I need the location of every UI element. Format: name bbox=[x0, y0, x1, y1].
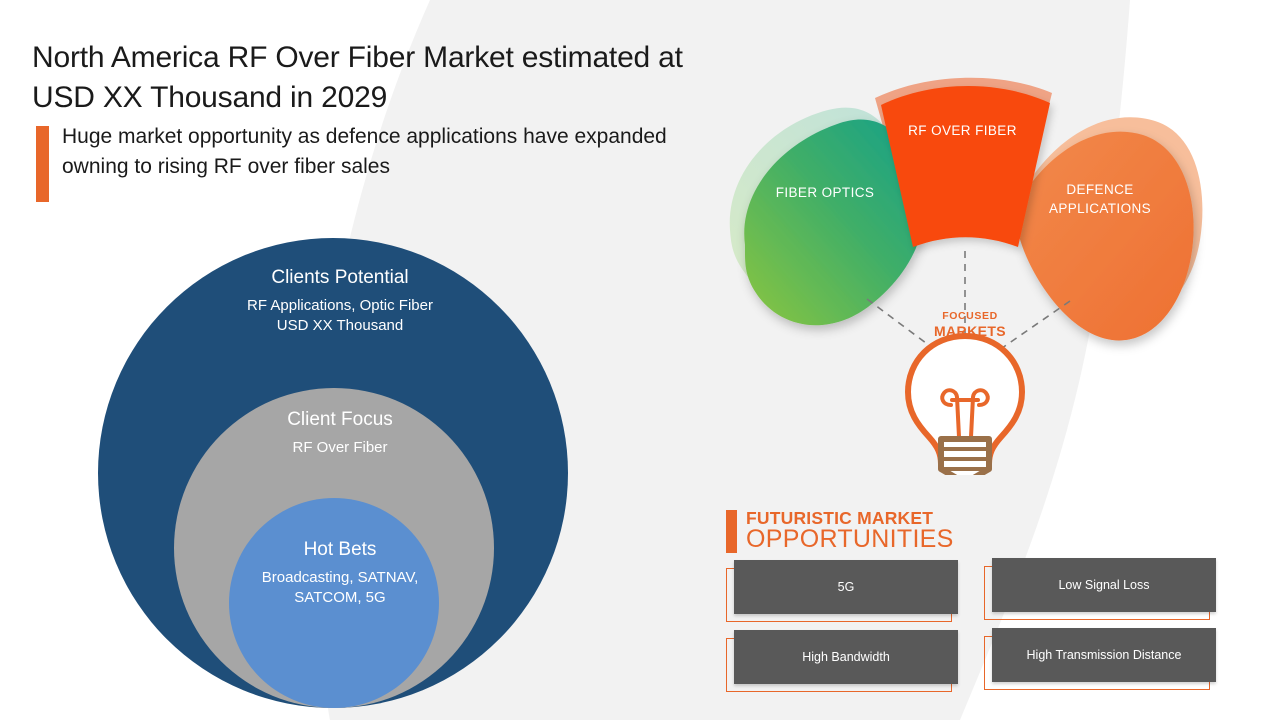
opportunity-card[interactable]: High Transmission Distance bbox=[984, 628, 1216, 690]
opportunities-accent-bar bbox=[726, 510, 737, 553]
slide-canvas: North America RF Over Fiber Market estim… bbox=[0, 0, 1280, 720]
petal-defence bbox=[1016, 132, 1194, 341]
subtitle-block: Huge market opportunity as defence appli… bbox=[32, 122, 732, 182]
opportunity-card[interactable]: Low Signal Loss bbox=[984, 558, 1216, 620]
focused-markets-diagram: FIBER OPTICS RF OVER FIBER DEFENCE APPLI… bbox=[700, 55, 1260, 475]
opportunities-heading: FUTURISTIC MARKET OPPORTUNITIES bbox=[726, 508, 1226, 558]
subtitle-accent-bar bbox=[36, 126, 49, 202]
futuristic-opportunities-section: FUTURISTIC MARKET OPPORTUNITIES 5G Low S… bbox=[726, 508, 1226, 708]
concentric-circles-diagram: Clients Potential RF Applications, Optic… bbox=[80, 228, 600, 720]
lightbulb-icon bbox=[908, 336, 1022, 475]
card-label: Low Signal Loss bbox=[992, 558, 1216, 612]
page-subtitle: Huge market opportunity as defence appli… bbox=[62, 122, 732, 182]
opportunity-card[interactable]: 5G bbox=[726, 560, 958, 622]
page-title: North America RF Over Fiber Market estim… bbox=[32, 38, 732, 118]
card-label: 5G bbox=[734, 560, 958, 614]
circle-hot-bets bbox=[229, 498, 439, 708]
opportunities-heading-line2: OPPORTUNITIES bbox=[746, 526, 1226, 553]
card-label: High Bandwidth bbox=[734, 630, 958, 684]
headline-block: North America RF Over Fiber Market estim… bbox=[32, 38, 732, 182]
card-label: High Transmission Distance bbox=[992, 628, 1216, 682]
opportunity-card[interactable]: High Bandwidth bbox=[726, 630, 958, 692]
opportunity-cards: 5G Low Signal Loss High Bandwidth High T… bbox=[726, 560, 1226, 710]
